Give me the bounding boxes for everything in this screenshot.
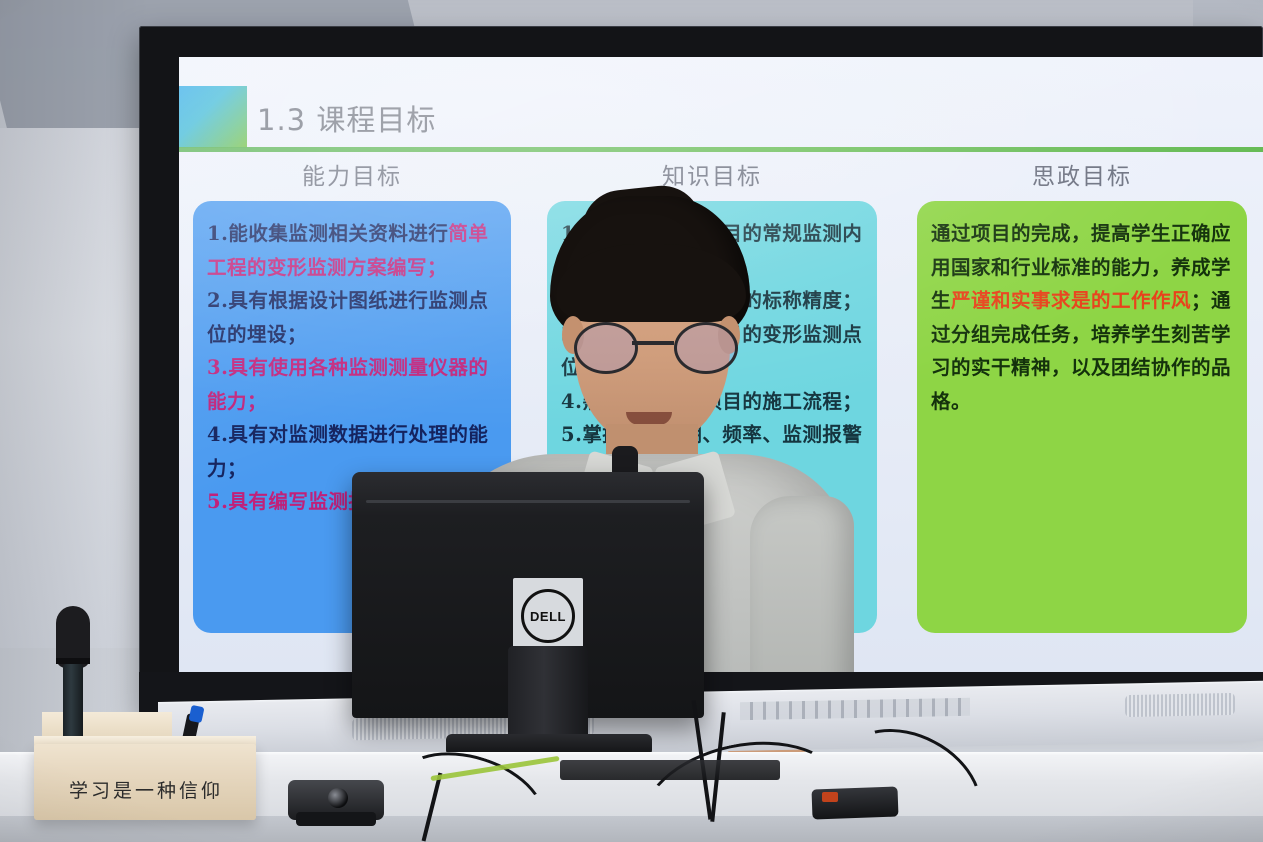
webcam-lens-icon	[328, 788, 348, 808]
slide-title: 1.3 课程目标	[257, 97, 436, 139]
column-ability-header: 能力目标	[193, 157, 511, 191]
screenshot-stage: 1.3 课程目标 能力目标 1.能收集监测相关资料进行简单工程的变形监测方案编写…	[0, 0, 1263, 842]
glasses-icon	[570, 322, 736, 368]
ideology-paragraph: 通过项目的完成，提高学生正确应用国家和行业标准的能力，养成学生严谨和实事求是的工…	[931, 217, 1233, 418]
column-ideology-header: 思政目标	[917, 157, 1247, 191]
dell-logo-badge: DELL	[513, 578, 583, 654]
lens-left	[574, 322, 638, 374]
column-ideology: 思政目标 通过项目的完成，提高学生正确应用国家和行业标准的能力，养成学生严谨和实…	[917, 157, 1247, 633]
column-knowledge-header: 知识目标	[547, 157, 877, 191]
lens-right	[674, 322, 738, 374]
dell-wordmark: DELL	[530, 609, 566, 624]
hair-fringe	[556, 244, 746, 322]
glasses-bridge	[632, 341, 674, 345]
speaker-grille-right	[1125, 693, 1235, 717]
pen-holder-motto: 学习是一种信仰	[48, 776, 244, 803]
column-ideology-card: 通过项目的完成，提高学生正确应用国家和行业标准的能力，养成学生严谨和实事求是的工…	[917, 201, 1247, 633]
handheld-microphone[interactable]	[56, 606, 90, 748]
monitor-seam	[366, 500, 690, 503]
title-divider-line	[179, 147, 1263, 152]
title-accent-block	[179, 86, 247, 148]
clicker-button[interactable]	[822, 792, 838, 802]
dell-oval-icon: DELL	[521, 589, 575, 643]
monitor-stand-neck	[508, 646, 588, 740]
webcam-base	[296, 812, 376, 826]
keyboard[interactable]	[560, 760, 780, 780]
